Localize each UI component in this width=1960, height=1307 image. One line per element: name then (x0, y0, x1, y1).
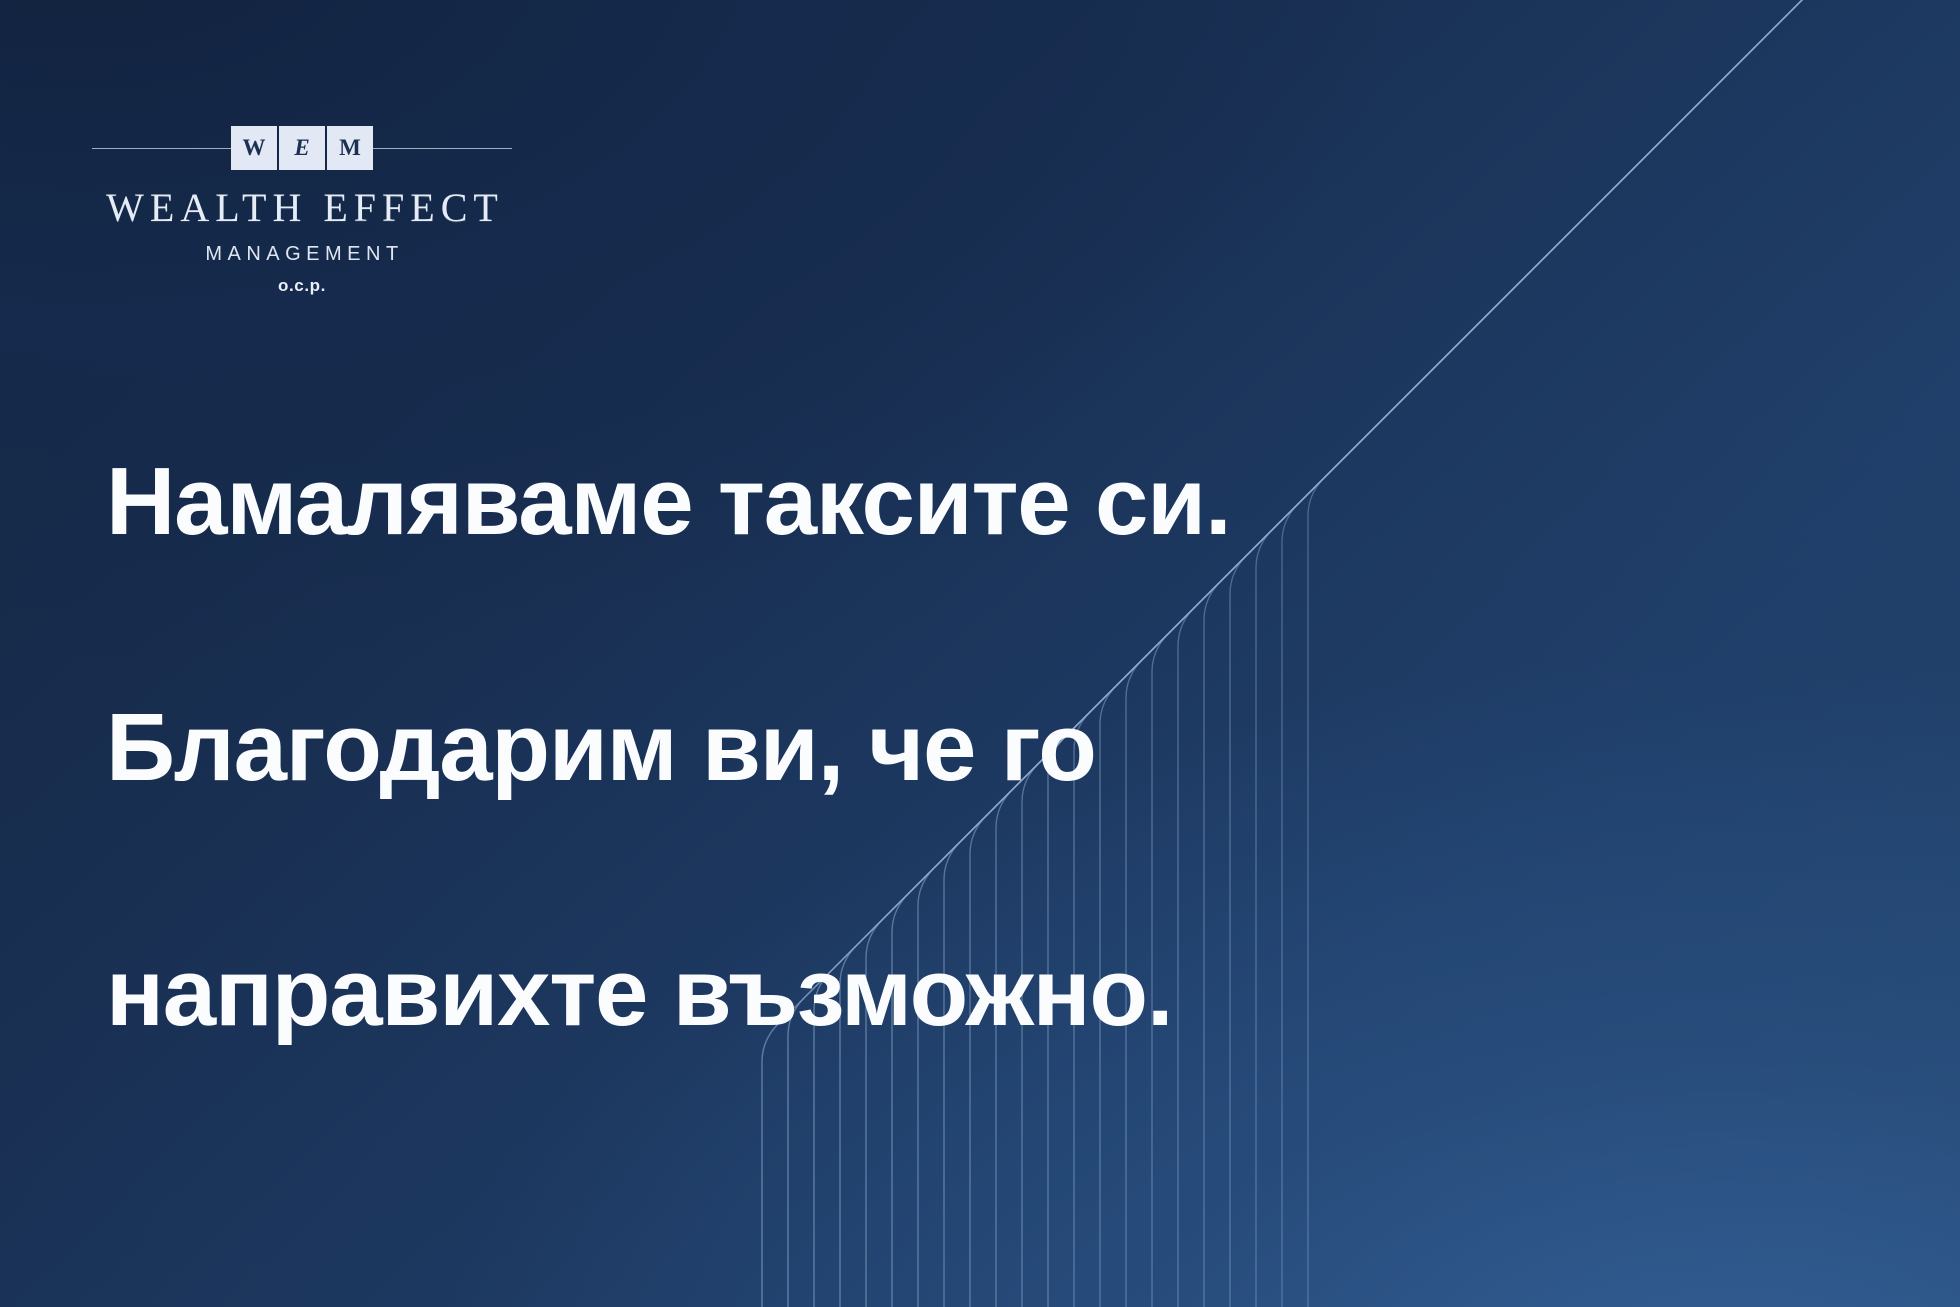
headline-line-2: Благодарим ви, че го (106, 687, 1546, 810)
headline: Намаляваме таксите си. Благодарим ви, че… (106, 318, 1546, 1178)
brand-name: WEALTH EFFECT (92, 188, 512, 228)
brand-license: o.c.p. (92, 277, 512, 294)
monogram-rule-left (92, 148, 231, 149)
headline-line-1: Намаляваме таксите си. (106, 441, 1546, 564)
brand-logo: W E M WEALTH EFFECT MANAGEMENT o.c.p. (92, 122, 512, 294)
slide-canvas: W E M WEALTH EFFECT MANAGEMENT o.c.p. На… (0, 0, 1960, 1307)
brand-descriptor: MANAGEMENT (92, 244, 512, 264)
monogram-tile-w: W (231, 126, 277, 170)
headline-line-3: направихте възможно. (106, 932, 1546, 1055)
monogram-mark: W E M (92, 122, 512, 174)
monogram-tile-m: M (327, 126, 373, 170)
monogram-tile-e: E (279, 126, 325, 170)
monogram-rule-right (373, 148, 512, 149)
monogram-tiles: W E M (231, 126, 373, 170)
